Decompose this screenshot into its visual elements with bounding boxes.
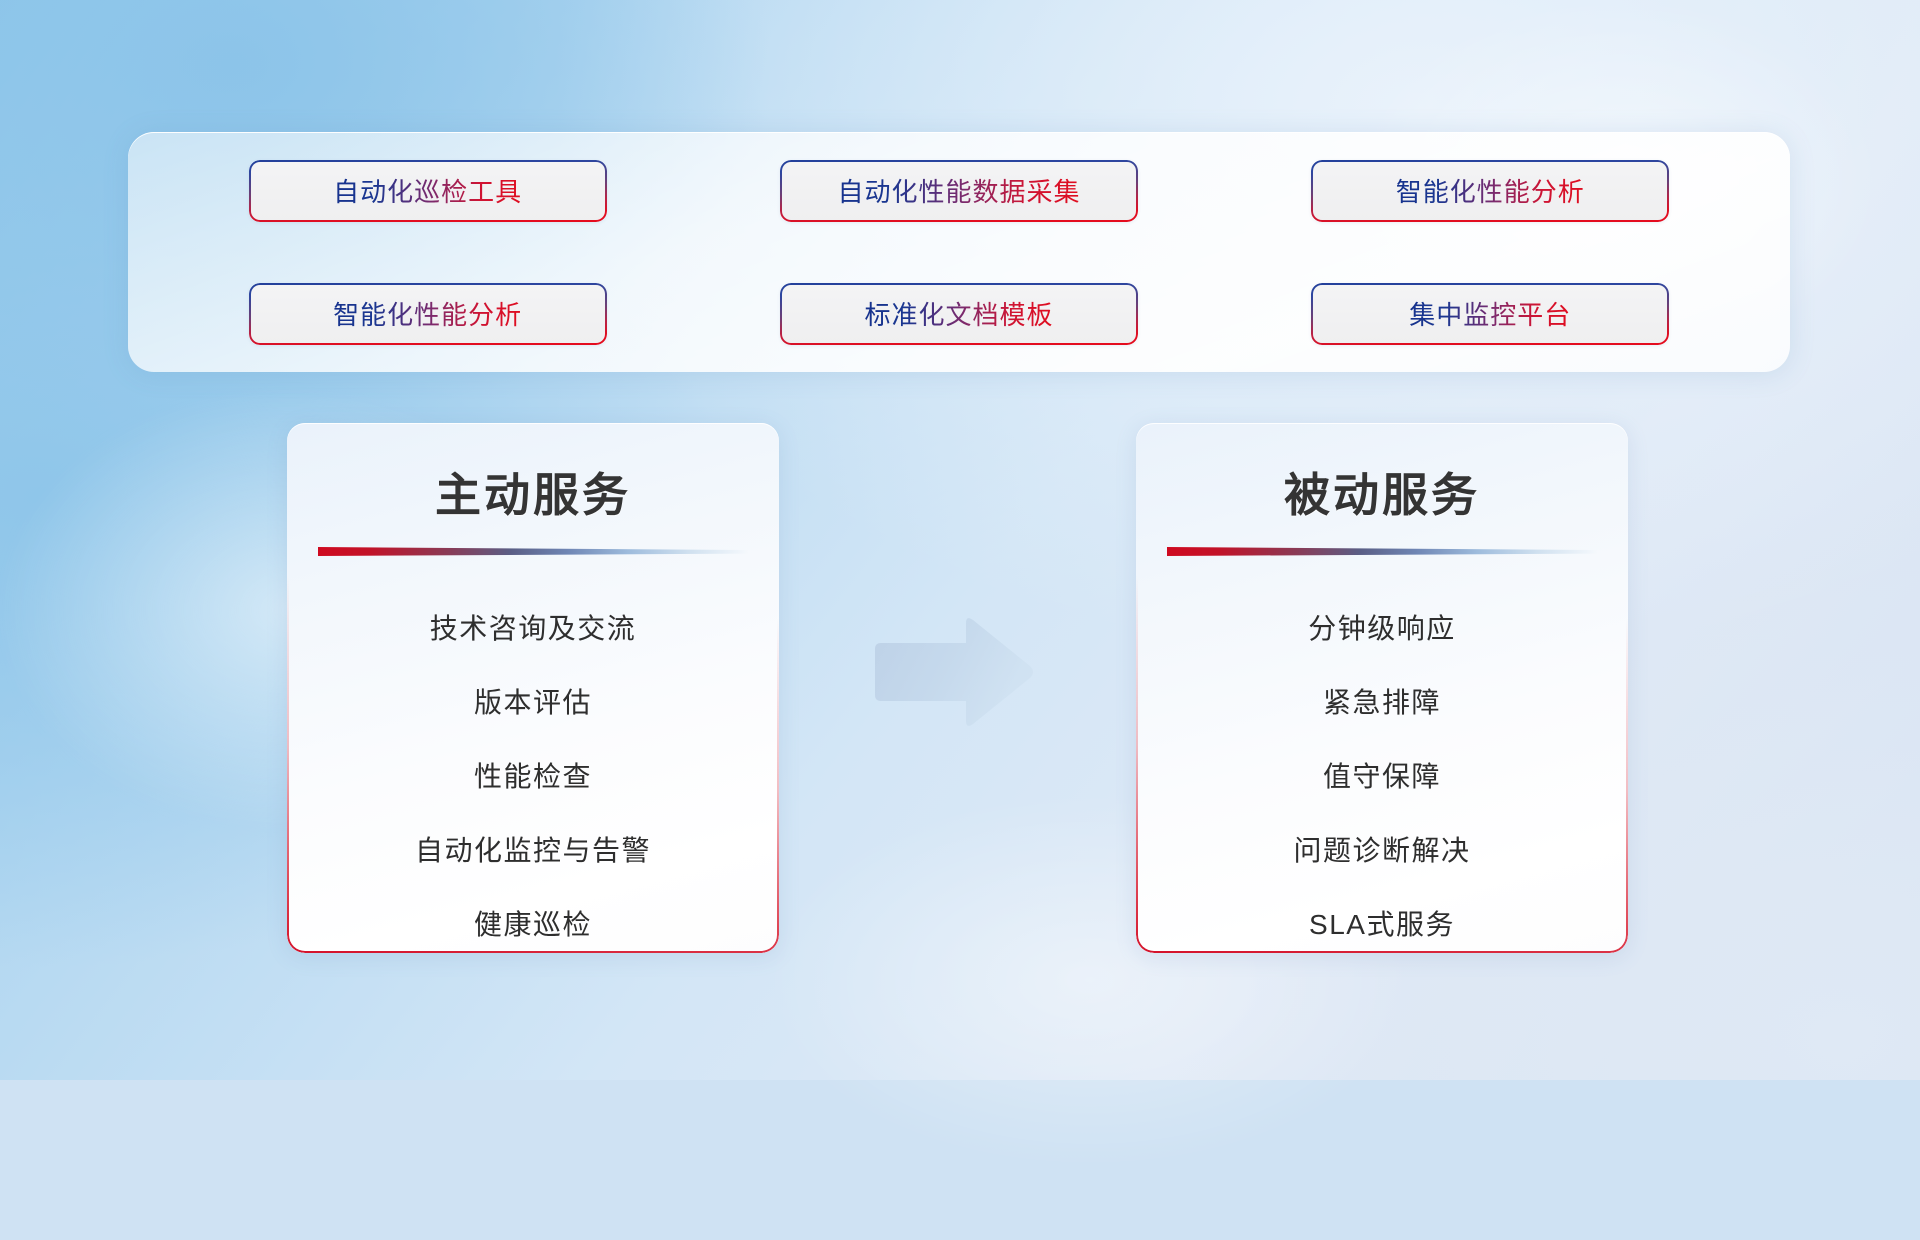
capability-chip-label: 智能化性能分析 bbox=[1396, 172, 1585, 209]
capability-chip-grid: 自动化巡检工具 自动化性能数据采集 智能化性能分析 智能化性能分析 标准化文档模… bbox=[128, 132, 1790, 372]
list-item[interactable]: 问题诊断解决 bbox=[1136, 812, 1628, 886]
capability-chip-label: 智能化性能分析 bbox=[333, 295, 522, 332]
service-card-reactive: 被动服务 分钟级响应 紧急排障 值守保障 问题诊断解决 SLA式服务 bbox=[1136, 423, 1628, 953]
list-item[interactable]: SLA式服务 bbox=[1136, 886, 1628, 953]
service-list-reactive: 分钟级响应 紧急排障 值守保障 问题诊断解决 SLA式服务 bbox=[1136, 590, 1628, 953]
card-title-reactive: 被动服务 bbox=[1136, 459, 1628, 525]
card-title-proactive: 主动服务 bbox=[287, 459, 779, 525]
capability-chip-label: 标准化文档模板 bbox=[864, 295, 1053, 332]
list-item[interactable]: 版本评估 bbox=[287, 664, 779, 738]
service-list-proactive: 技术咨询及交流 版本评估 性能检查 自动化监控与告警 健康巡检 bbox=[287, 590, 779, 953]
list-item[interactable]: 技术咨询及交流 bbox=[287, 590, 779, 664]
capability-chip-automated-inspection-tool[interactable]: 自动化巡检工具 bbox=[249, 160, 607, 222]
title-divider-proactive bbox=[318, 547, 748, 556]
title-divider-reactive bbox=[1167, 547, 1597, 556]
list-item[interactable]: 性能检查 bbox=[287, 738, 779, 812]
capability-chip-label: 自动化巡检工具 bbox=[333, 172, 522, 209]
capability-chip-standardized-document-template[interactable]: 标准化文档模板 bbox=[780, 283, 1138, 345]
capability-chip-centralized-monitoring-platform[interactable]: 集中监控平台 bbox=[1311, 283, 1669, 345]
list-item[interactable]: 健康巡检 bbox=[287, 886, 779, 953]
arrow-right-icon bbox=[869, 613, 1037, 731]
list-item[interactable]: 紧急排障 bbox=[1136, 664, 1628, 738]
capability-chip-label: 自动化性能数据采集 bbox=[837, 172, 1080, 209]
service-card-proactive: 主动服务 技术咨询及交流 版本评估 性能检查 自动化监控与告警 健康巡检 bbox=[287, 423, 779, 953]
capability-chip-automated-performance-data-collection[interactable]: 自动化性能数据采集 bbox=[780, 160, 1138, 222]
capability-chip-label: 集中监控平台 bbox=[1409, 295, 1571, 332]
list-item[interactable]: 自动化监控与告警 bbox=[287, 812, 779, 886]
capability-chip-intelligent-performance-analysis-1[interactable]: 智能化性能分析 bbox=[1311, 160, 1669, 222]
capability-chip-intelligent-performance-analysis-2[interactable]: 智能化性能分析 bbox=[249, 283, 607, 345]
capability-panel: 自动化巡检工具 自动化性能数据采集 智能化性能分析 智能化性能分析 标准化文档模… bbox=[128, 132, 1790, 372]
list-item[interactable]: 分钟级响应 bbox=[1136, 590, 1628, 664]
list-item[interactable]: 值守保障 bbox=[1136, 738, 1628, 812]
